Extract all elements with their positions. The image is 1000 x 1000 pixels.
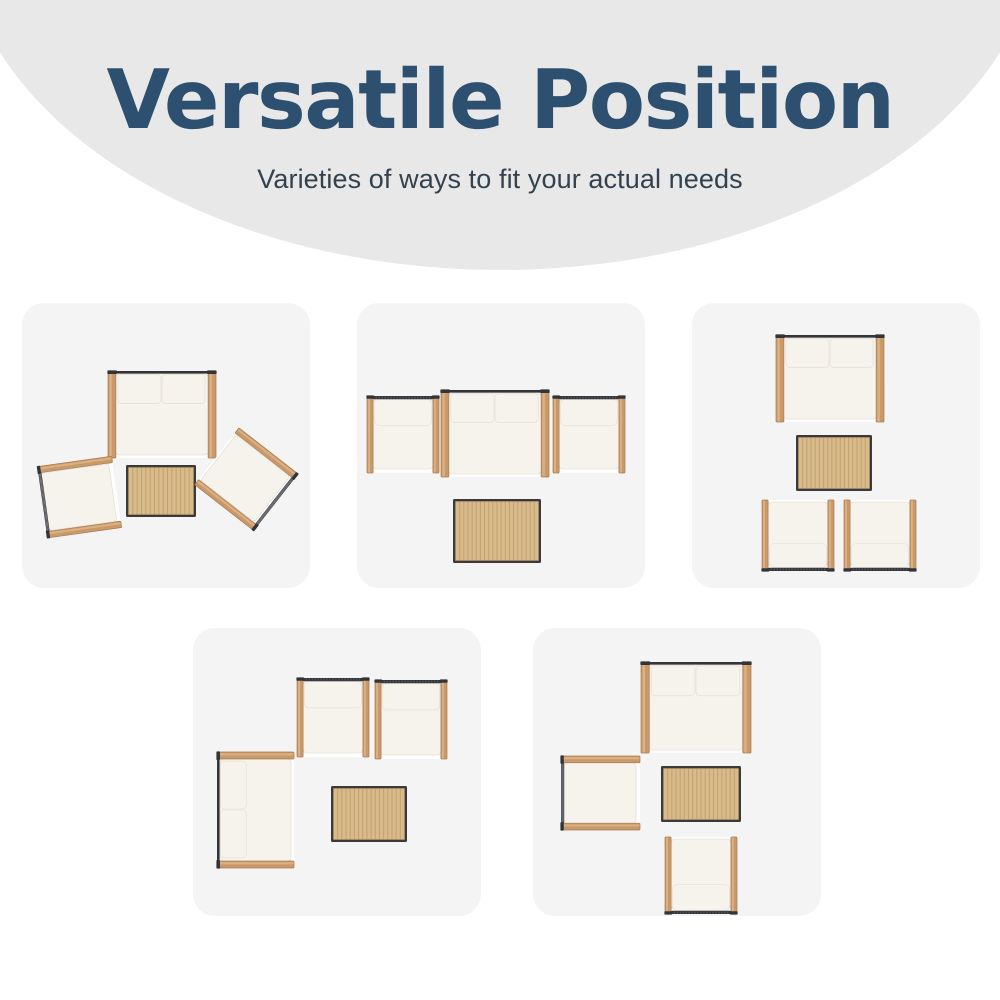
layout-cards-grid [0, 290, 1000, 1000]
poster-page: Versatile Position Varieties of ways to … [0, 0, 1000, 1000]
loveseat-arm-left-highlight [642, 663, 644, 753]
chair-back-rail [850, 568, 910, 571]
chair-arm-right [363, 679, 369, 757]
furniture-chair-2 [37, 456, 122, 539]
layout-diagram-5 [533, 628, 821, 916]
chair-arm-right-highlight [911, 500, 913, 570]
loveseat-back-cushion-right [696, 666, 740, 696]
chair-arm-right [910, 500, 916, 570]
furniture-chair-2 [560, 755, 640, 830]
chair-back-rail [768, 568, 828, 571]
furniture-loveseat-2 [440, 389, 549, 477]
loveseat-arm-left [108, 372, 116, 458]
layout-diagram-3 [692, 303, 980, 588]
loveseat-arm-right [208, 372, 216, 458]
chair-back-rail [561, 763, 564, 823]
chair-arm-top [562, 756, 640, 763]
loveseat-arm-right [743, 663, 751, 753]
loveseat-back-rail [449, 390, 541, 393]
chair-arm-left-highlight [298, 679, 300, 757]
layout-card-2[interactable] [357, 303, 645, 588]
chair-arm-right [433, 397, 439, 473]
furniture-loveseat-1 [640, 661, 751, 753]
furniture-chair-4 [843, 500, 916, 572]
header: Versatile Position Varieties of ways to … [0, 0, 1000, 280]
loveseat-arm-left [641, 663, 649, 753]
loveseat-arm-right-body [876, 336, 884, 422]
loveseat-arm-left-highlight [109, 372, 111, 458]
loveseat-arm-right-highlight [744, 663, 746, 753]
chair-arm-left-highlight [554, 397, 556, 473]
furniture-loveseat-1 [775, 334, 884, 422]
chair-arm-right-body [828, 500, 834, 570]
loveseat-arm-left-body [108, 372, 116, 458]
loveseat-arm-right-highlight [543, 391, 545, 477]
chair-arm-left-body [665, 837, 671, 913]
furniture-chair-3 [761, 500, 834, 572]
chair-arm-left-body [553, 397, 559, 473]
chair-arm-left [665, 837, 671, 913]
loveseat-back-rail [649, 662, 742, 665]
chair-arm-right-body [731, 837, 737, 913]
chair-arm-right-body [363, 679, 369, 757]
chair-arm-top-body [562, 756, 640, 763]
chair-back-cushion [561, 400, 618, 426]
chair-back-rail [381, 680, 441, 683]
furniture-foot [432, 395, 440, 398]
loveseat-arm-right-highlight [878, 336, 880, 422]
furniture-table-3 [661, 766, 741, 822]
chair-arm-left-body [844, 500, 850, 570]
chair-back-cushion [852, 544, 909, 568]
loveseat-arm-right [541, 391, 549, 477]
layout-diagram-2 [357, 303, 645, 588]
furniture-foot [440, 389, 450, 393]
furniture-foot [742, 661, 752, 665]
loveseat-back-cushion-left [786, 339, 829, 368]
furniture-foot [618, 395, 626, 398]
chair-arm-right-highlight [364, 679, 366, 757]
chair-arm-right-highlight [442, 681, 444, 759]
chair-arm-right [441, 681, 447, 759]
chair-arm-bottom-body [562, 823, 640, 830]
chair-arm-left-body [762, 500, 768, 570]
chair-arm-right [731, 837, 737, 913]
furniture-foot [216, 860, 220, 869]
furniture-loveseat-3 [216, 751, 294, 868]
chair-arm-left-body [375, 681, 381, 759]
chair-arm-left-highlight [845, 500, 847, 570]
chair-arm-left [367, 397, 373, 473]
chair-back-cushion [770, 544, 827, 568]
chair-arm-right [828, 500, 834, 570]
furniture-chair-3 [552, 395, 625, 473]
furniture-foot [664, 911, 672, 914]
chair-back-rail [303, 678, 363, 681]
loveseat-back-rail [217, 759, 220, 861]
furniture-chair-1 [366, 395, 439, 473]
chair-arm-left [297, 679, 303, 757]
furniture-foot [843, 568, 851, 571]
chair-arm-right-highlight [620, 397, 622, 473]
furniture-table-2 [796, 435, 872, 491]
furniture-loveseat-1 [107, 370, 216, 458]
loveseat-arm-left-body [776, 336, 784, 422]
chair-arm-right-highlight [732, 837, 734, 913]
chair-seat-cushion [564, 763, 636, 822]
furniture-foot [560, 822, 563, 830]
chair-arm-left [553, 397, 559, 473]
loveseat-back-cushion-left [451, 394, 494, 423]
page-title: Versatile Position [0, 0, 1000, 144]
furniture-chair-2 [374, 679, 447, 759]
chair-arm-left [844, 500, 850, 570]
loveseat-back-cushion-right [830, 339, 873, 368]
chair-arm-right-body [433, 397, 439, 473]
page-subtitle: Varieties of ways to fit your actual nee… [0, 144, 1000, 195]
furniture-table-4 [331, 786, 407, 842]
furniture-foot [730, 911, 738, 914]
loveseat-back-cushion-top [221, 761, 247, 809]
furniture-foot [875, 334, 885, 338]
loveseat-arm-right [876, 336, 884, 422]
furniture-foot [107, 370, 117, 374]
chair-arm-bottom [562, 823, 640, 830]
furniture-foot [909, 568, 917, 571]
loveseat-back-cushion-bottom [221, 810, 247, 858]
chair-arm-left [762, 500, 768, 570]
furniture-foot [775, 334, 785, 338]
chair-arm-bottom-highlight [562, 824, 640, 826]
layout-diagram-4 [193, 628, 481, 916]
loveseat-back-rail [116, 371, 208, 374]
layout-card-1[interactable] [22, 303, 310, 588]
loveseat-arm-left-highlight [442, 391, 444, 477]
loveseat-arm-left-body [441, 391, 449, 477]
loveseat-arm-bottom-body [218, 861, 294, 868]
loveseat-arm-right-body [743, 663, 751, 753]
layout-card-4[interactable] [193, 628, 481, 916]
loveseat-arm-left-highlight [777, 336, 779, 422]
chair-back-cushion [375, 400, 432, 426]
furniture-table-3 [126, 465, 196, 517]
furniture-foot [366, 395, 374, 398]
loveseat-back-cushion-right [495, 394, 538, 423]
chair-back-rail [373, 396, 433, 399]
chair-arm-left [375, 681, 381, 759]
layout-card-3[interactable] [692, 303, 980, 588]
loveseat-arm-left [441, 391, 449, 477]
loveseat-arm-bottom [218, 861, 294, 868]
furniture-foot [216, 751, 220, 760]
chair-arm-left-highlight [376, 681, 378, 759]
furniture-foot [440, 679, 448, 682]
chair-arm-right-highlight [434, 397, 436, 473]
table-top [799, 438, 870, 489]
layout-card-5[interactable] [533, 628, 821, 916]
loveseat-back-cushion-left [651, 666, 695, 696]
chair-arm-right [619, 397, 625, 473]
loveseat-arm-right-body [541, 391, 549, 477]
table-top [129, 468, 194, 515]
loveseat-back-cushion-right [162, 375, 205, 404]
chair-arm-left-highlight [763, 500, 765, 570]
furniture-foot [640, 661, 650, 665]
chair-back-cushion [673, 885, 730, 911]
chair-back-cushion [383, 684, 440, 710]
loveseat-arm-bottom-highlight [218, 862, 294, 864]
loveseat-arm-left [776, 336, 784, 422]
loveseat-arm-top [218, 752, 294, 759]
table-top [334, 789, 405, 840]
furniture-foot [540, 389, 550, 393]
furniture-foot [560, 755, 563, 763]
chair-back-rail [671, 911, 731, 914]
chair-arm-right-body [910, 500, 916, 570]
chair-arm-left-highlight [368, 397, 370, 473]
loveseat-arm-top-body [218, 752, 294, 759]
loveseat-arm-top-highlight [218, 753, 294, 755]
furniture-chair-1 [296, 677, 369, 757]
chair-arm-top-highlight [562, 757, 640, 759]
furniture-foot [552, 395, 560, 398]
chair-arm-left-body [297, 679, 303, 757]
loveseat-arm-right-highlight [210, 372, 212, 458]
chair-arm-right-body [619, 397, 625, 473]
chair-seat-cushion [41, 464, 116, 531]
furniture-foot [374, 679, 382, 682]
furniture-foot [296, 677, 304, 680]
chair-arm-right-highlight [829, 500, 831, 570]
chair-arm-left-highlight [666, 837, 668, 913]
furniture-foot [761, 568, 769, 571]
furniture-foot [827, 568, 835, 571]
chair-back-rail [559, 396, 619, 399]
loveseat-back-rail [784, 335, 876, 338]
furniture-foot [362, 677, 370, 680]
loveseat-arm-left-body [641, 663, 649, 753]
layout-diagram-1 [22, 303, 310, 588]
chair-arm-left-body [367, 397, 373, 473]
furniture-chair-4 [664, 837, 737, 915]
loveseat-arm-right-body [208, 372, 216, 458]
chair-back-cushion [305, 682, 362, 708]
furniture-table-4 [453, 499, 541, 563]
loveseat-back-cushion-left [118, 375, 161, 404]
furniture-foot [207, 370, 217, 374]
chair-arm-right-body [441, 681, 447, 759]
